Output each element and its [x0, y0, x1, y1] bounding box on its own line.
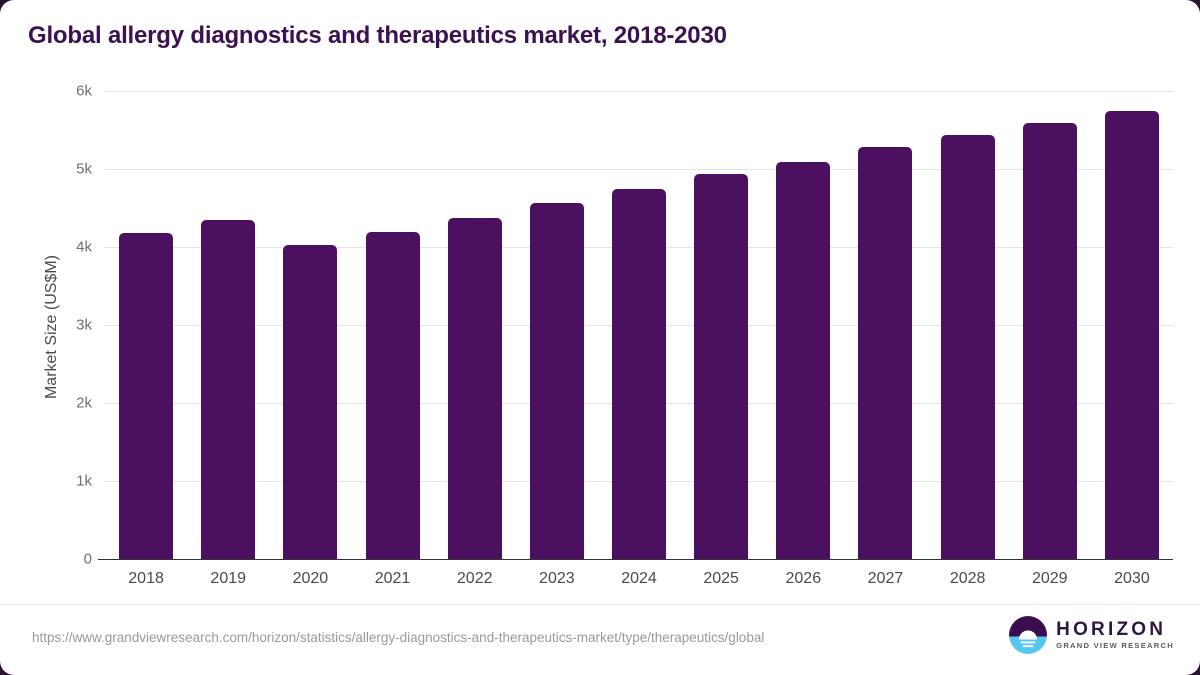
bar-2026[interactable]	[776, 162, 830, 558]
y-axis-tick-label: 4k	[22, 238, 92, 255]
bar-2028[interactable]	[941, 135, 995, 559]
x-axis-tick-label-2024: 2024	[621, 570, 657, 588]
y-axis-tick-label: 6k	[22, 82, 92, 99]
x-axis-tick-label-2018: 2018	[128, 570, 164, 588]
x-axis-tick-label-2021: 2021	[375, 570, 411, 588]
bar-2027[interactable]	[858, 147, 912, 558]
brand-logo[interactable]: HORIZON GRAND VIEW RESEARCH	[1009, 616, 1174, 654]
x-axis-tick-label-2026: 2026	[786, 570, 822, 588]
footer-divider	[0, 604, 1200, 605]
x-axis-line	[98, 559, 1173, 561]
horizon-sunrise-icon	[1009, 616, 1047, 654]
y-axis-tick-label: 3k	[22, 316, 92, 333]
logo-name: HORIZON	[1056, 620, 1174, 640]
x-axis-tick-label-2029: 2029	[1032, 570, 1068, 588]
x-axis-tick-label-2027: 2027	[868, 570, 904, 588]
logo-text-block: HORIZON GRAND VIEW RESEARCH	[1056, 620, 1174, 650]
bar-2029[interactable]	[1023, 123, 1077, 558]
bar-2022[interactable]	[448, 218, 502, 558]
x-axis-tick-label-2028: 2028	[950, 570, 986, 588]
chart-canvas: Global allergy diagnostics and therapeut…	[0, 0, 1200, 675]
y-axis-tick-label: 2k	[22, 394, 92, 411]
y-axis-tick-label: 5k	[22, 160, 92, 177]
bar-2020[interactable]	[283, 245, 337, 559]
source-url[interactable]: https://www.grandviewresearch.com/horizo…	[32, 630, 764, 645]
bar-2019[interactable]	[201, 220, 255, 559]
gridline	[105, 169, 1173, 170]
x-axis-tick-label-2020: 2020	[293, 570, 329, 588]
x-axis-tick-label-2025: 2025	[703, 570, 739, 588]
y-axis-tick-label: 1k	[22, 472, 92, 489]
bar-2025[interactable]	[694, 174, 748, 559]
gridline	[105, 91, 1173, 92]
logo-subtitle: GRAND VIEW RESEARCH	[1056, 642, 1174, 650]
bar-2018[interactable]	[119, 233, 173, 558]
y-axis-tick-label: 0	[22, 550, 92, 567]
x-axis-tick-label-2022: 2022	[457, 570, 493, 588]
bar-2021[interactable]	[366, 232, 420, 558]
x-axis-tick-label-2030: 2030	[1114, 570, 1150, 588]
bar-2023[interactable]	[530, 203, 584, 558]
bar-2030[interactable]	[1105, 111, 1159, 559]
plot-area: Market Size (US$M) 01k2k3k4k5k6k 2018201…	[0, 0, 1200, 675]
x-axis-tick-label-2019: 2019	[210, 570, 246, 588]
x-axis-tick-label-2023: 2023	[539, 570, 575, 588]
bar-2024[interactable]	[612, 189, 666, 559]
